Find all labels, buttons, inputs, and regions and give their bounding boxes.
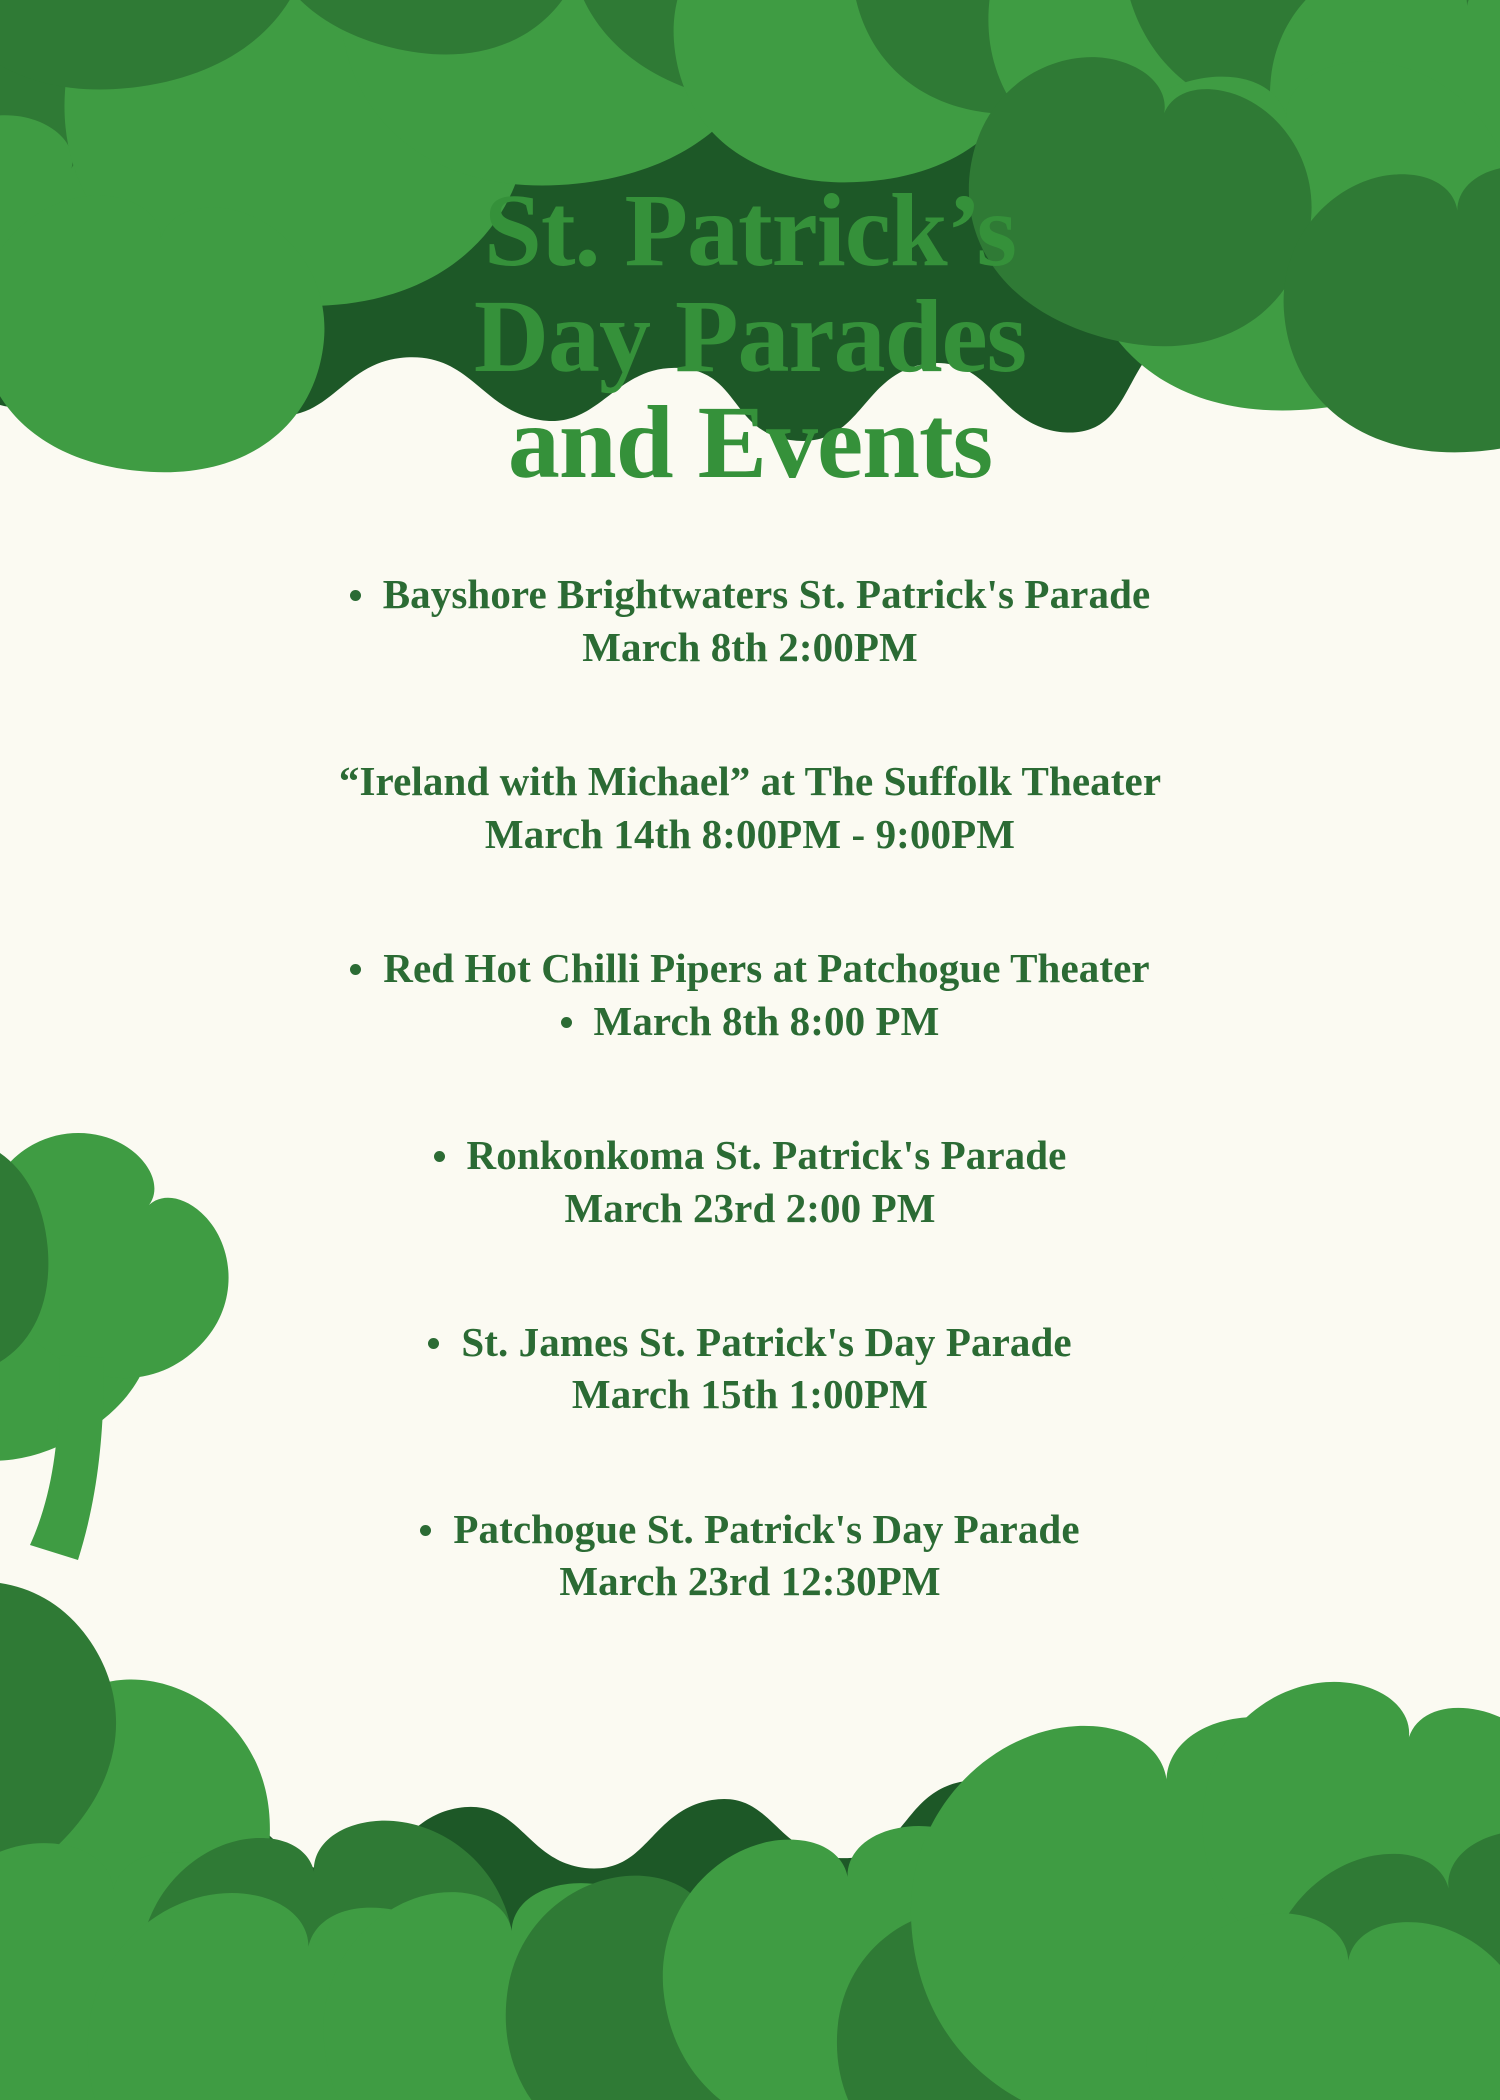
event-name: Ronkonkoma St. Patrick's Parade	[467, 1132, 1067, 1178]
event-name-line: “Ireland with Michael” at The Suffolk Th…	[85, 755, 1415, 807]
event-item: St. James St. Patrick's Day ParadeMarch …	[85, 1316, 1415, 1421]
event-time: March 8th 2:00PM	[582, 624, 918, 670]
event-name-line: Ronkonkoma St. Patrick's Parade	[85, 1129, 1415, 1181]
page-title: St. Patrick’s Day Parades and Events	[150, 178, 1350, 496]
event-time: March 23rd 12:30PM	[559, 1558, 940, 1604]
event-name-line: St. James St. Patrick's Day Parade	[85, 1316, 1415, 1368]
event-item: Bayshore Brightwaters St. Patrick's Para…	[85, 568, 1415, 673]
event-time: March 14th 8:00PM - 9:00PM	[485, 811, 1015, 857]
event-item: “Ireland with Michael” at The Suffolk Th…	[85, 755, 1415, 860]
event-time-line: March 8th 8:00 PM	[85, 995, 1415, 1047]
title-line-2: Day Parades	[150, 284, 1350, 390]
event-item: Ronkonkoma St. Patrick's ParadeMarch 23r…	[85, 1129, 1415, 1234]
title-line-1: St. Patrick’s	[150, 178, 1350, 284]
event-time: March 23rd 2:00 PM	[564, 1185, 935, 1231]
poster-content: St. Patrick’s Day Parades and Events Bay…	[0, 0, 1500, 2100]
events-list: Bayshore Brightwaters St. Patrick's Para…	[85, 568, 1415, 1608]
bullet-icon	[428, 1338, 439, 1349]
event-name: Red Hot Chilli Pipers at Patchogue Theat…	[383, 945, 1149, 991]
event-time-line: March 8th 2:00PM	[85, 621, 1415, 673]
event-time-line: March 14th 8:00PM - 9:00PM	[85, 808, 1415, 860]
title-line-3: and Events	[150, 390, 1350, 496]
event-time-line: March 15th 1:00PM	[85, 1368, 1415, 1420]
bullet-icon	[434, 1151, 445, 1162]
event-item: Patchogue St. Patrick's Day ParadeMarch …	[85, 1503, 1415, 1608]
event-name: “Ireland with Michael” at The Suffolk Th…	[339, 758, 1161, 804]
event-item: Red Hot Chilli Pipers at Patchogue Theat…	[85, 942, 1415, 1047]
event-name-line: Red Hot Chilli Pipers at Patchogue Theat…	[85, 942, 1415, 994]
bullet-icon	[350, 964, 361, 975]
event-name-line: Bayshore Brightwaters St. Patrick's Para…	[85, 568, 1415, 620]
event-name: Bayshore Brightwaters St. Patrick's Para…	[383, 571, 1151, 617]
event-name: St. James St. Patrick's Day Parade	[461, 1319, 1071, 1365]
event-time: March 8th 8:00 PM	[594, 998, 940, 1044]
event-time-line: March 23rd 2:00 PM	[85, 1182, 1415, 1234]
bullet-icon	[350, 590, 361, 601]
bullet-icon	[561, 1017, 572, 1028]
event-time: March 15th 1:00PM	[572, 1371, 928, 1417]
bullet-icon	[420, 1525, 431, 1536]
poster-canvas: St. Patrick’s Day Parades and Events Bay…	[0, 0, 1500, 2100]
event-time-line: March 23rd 12:30PM	[85, 1555, 1415, 1607]
event-name: Patchogue St. Patrick's Day Parade	[453, 1506, 1079, 1552]
event-name-line: Patchogue St. Patrick's Day Parade	[85, 1503, 1415, 1555]
